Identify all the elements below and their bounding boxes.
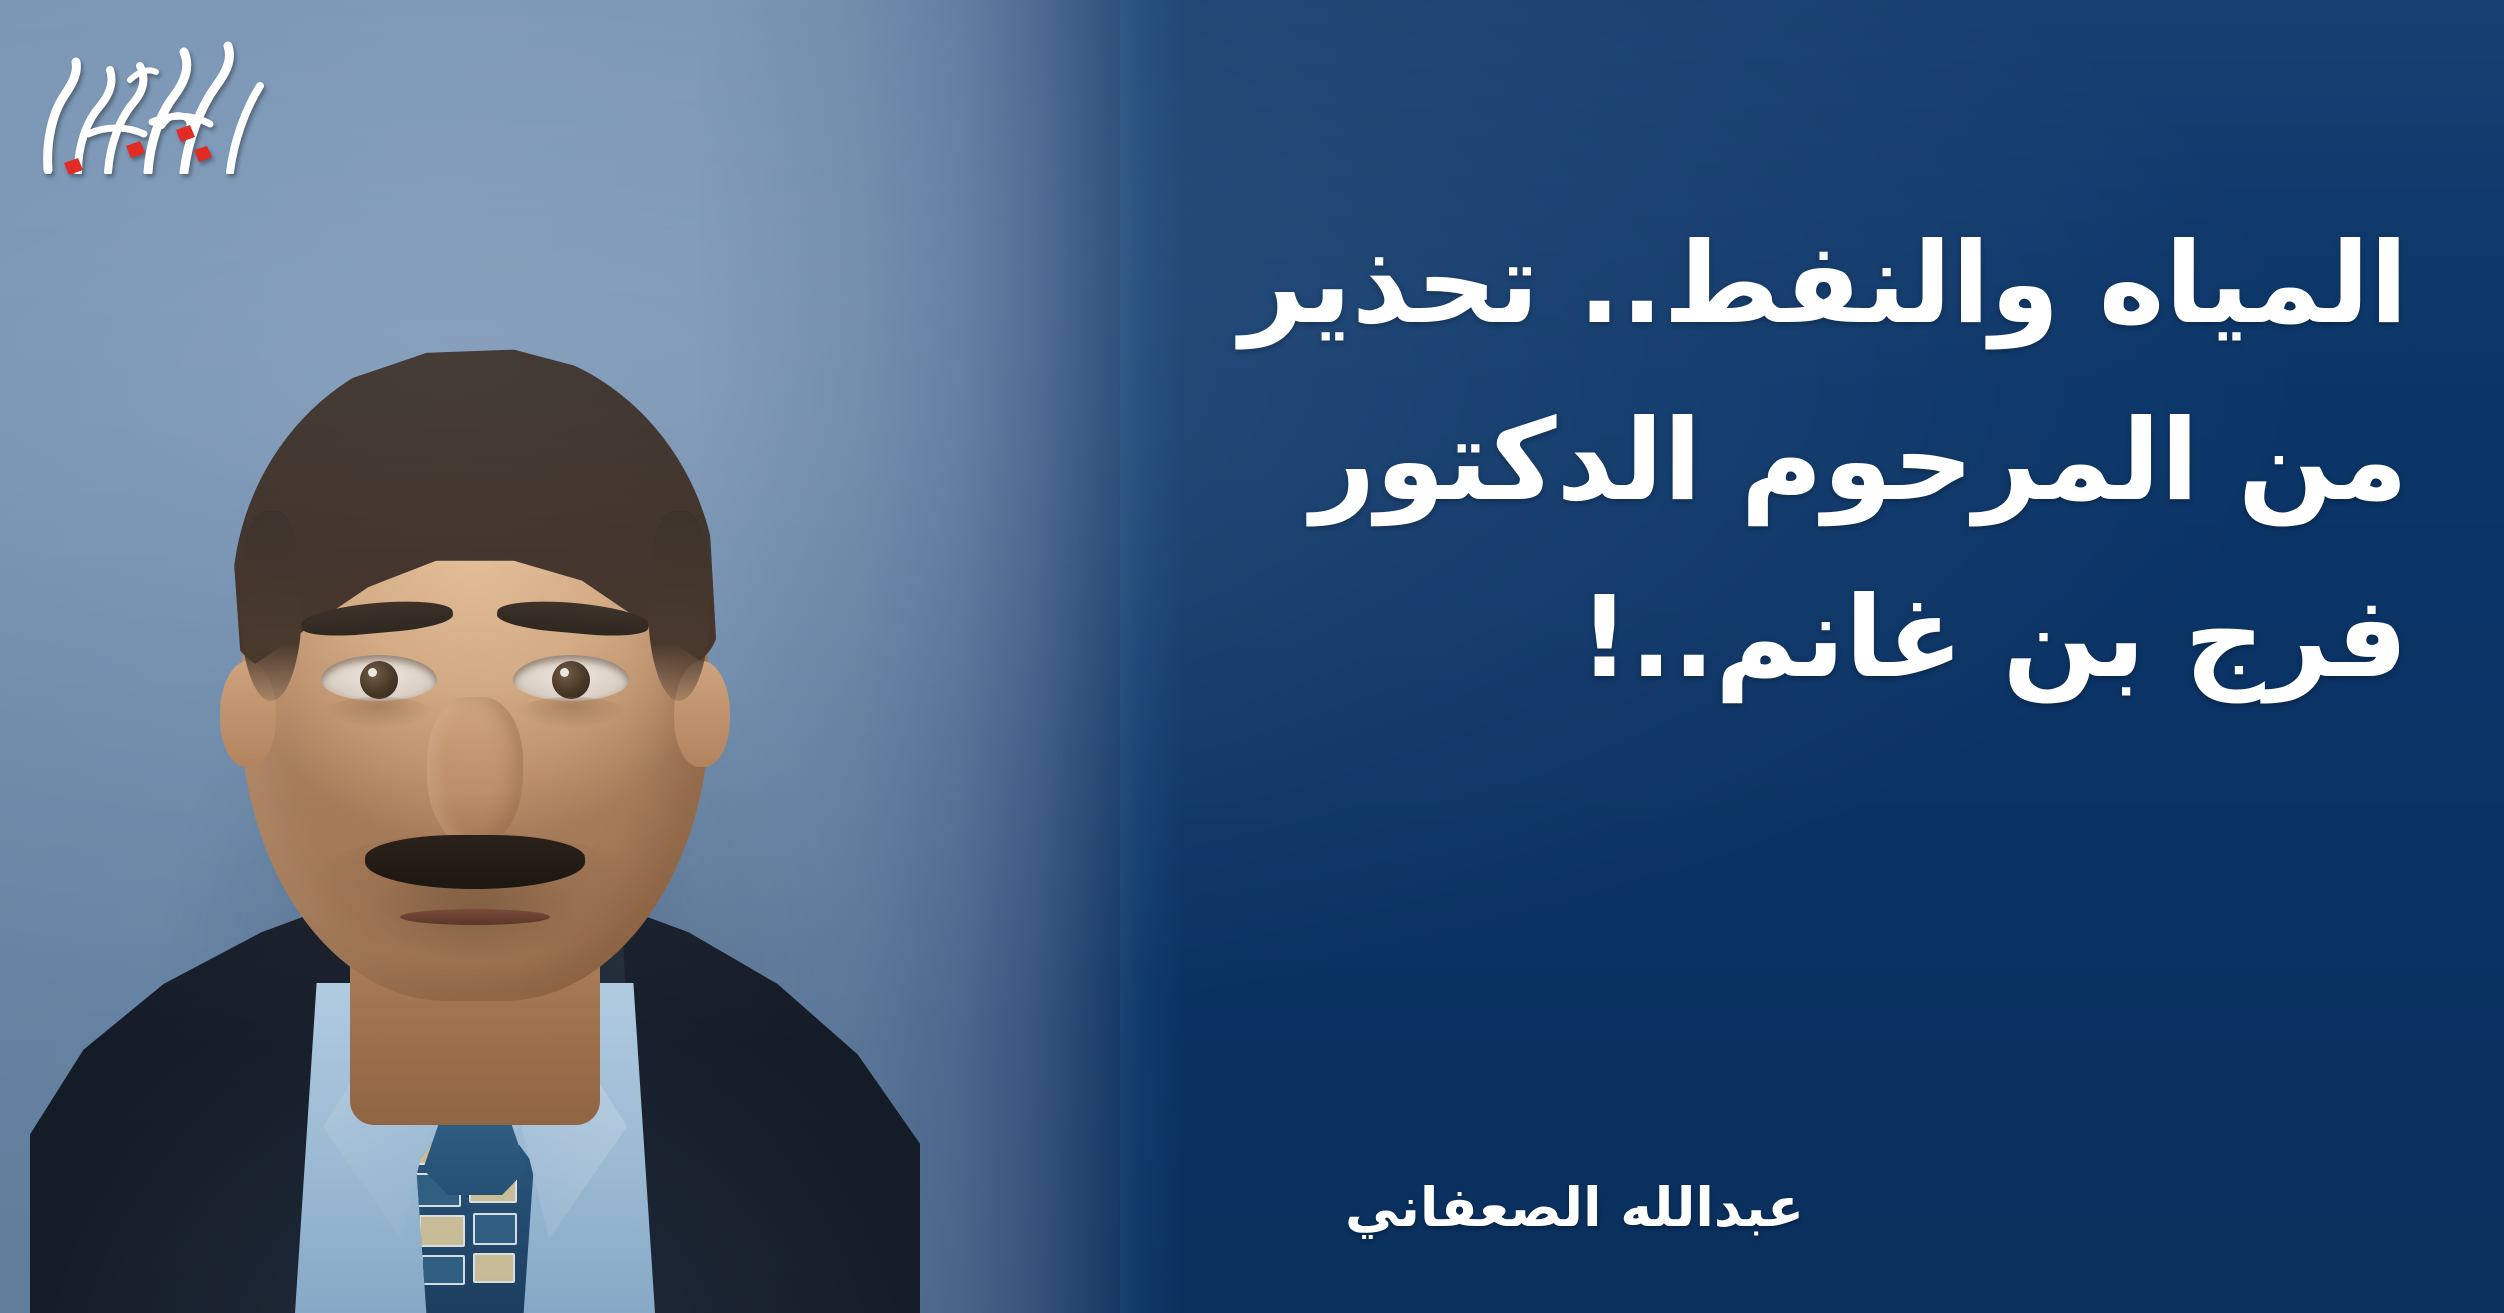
nose [427, 697, 523, 847]
under-eye-shadow-left [315, 697, 443, 741]
iris-right [552, 661, 590, 699]
logo-calligraphy-strokes [48, 46, 260, 172]
publication-logo[interactable] [34, 22, 272, 174]
eye-left [321, 655, 437, 701]
news-banner: المياه والنفط.. تحذير من المرحوم الدكتور… [0, 0, 2504, 1313]
author-name: عبدالله الصعفاني [1345, 1178, 1804, 1237]
chin-shading [340, 873, 610, 993]
sideburn-right [648, 511, 710, 701]
iris-left [360, 661, 398, 699]
portrait-photo [60, 0, 890, 1313]
headline-line-3: فرج بن غانم..! [1018, 550, 2408, 727]
mustache [365, 835, 585, 889]
headline: المياه والنفط.. تحذير من المرحوم الدكتور… [1018, 196, 2408, 727]
headline-line-1: المياه والنفط.. تحذير [1018, 196, 2408, 373]
mouth [400, 909, 550, 925]
headline-line-2: من المرحوم الدكتور [1018, 373, 2408, 550]
sideburn-left [240, 511, 302, 701]
under-eye-shadow-right [507, 697, 635, 741]
eye-right [513, 655, 629, 701]
